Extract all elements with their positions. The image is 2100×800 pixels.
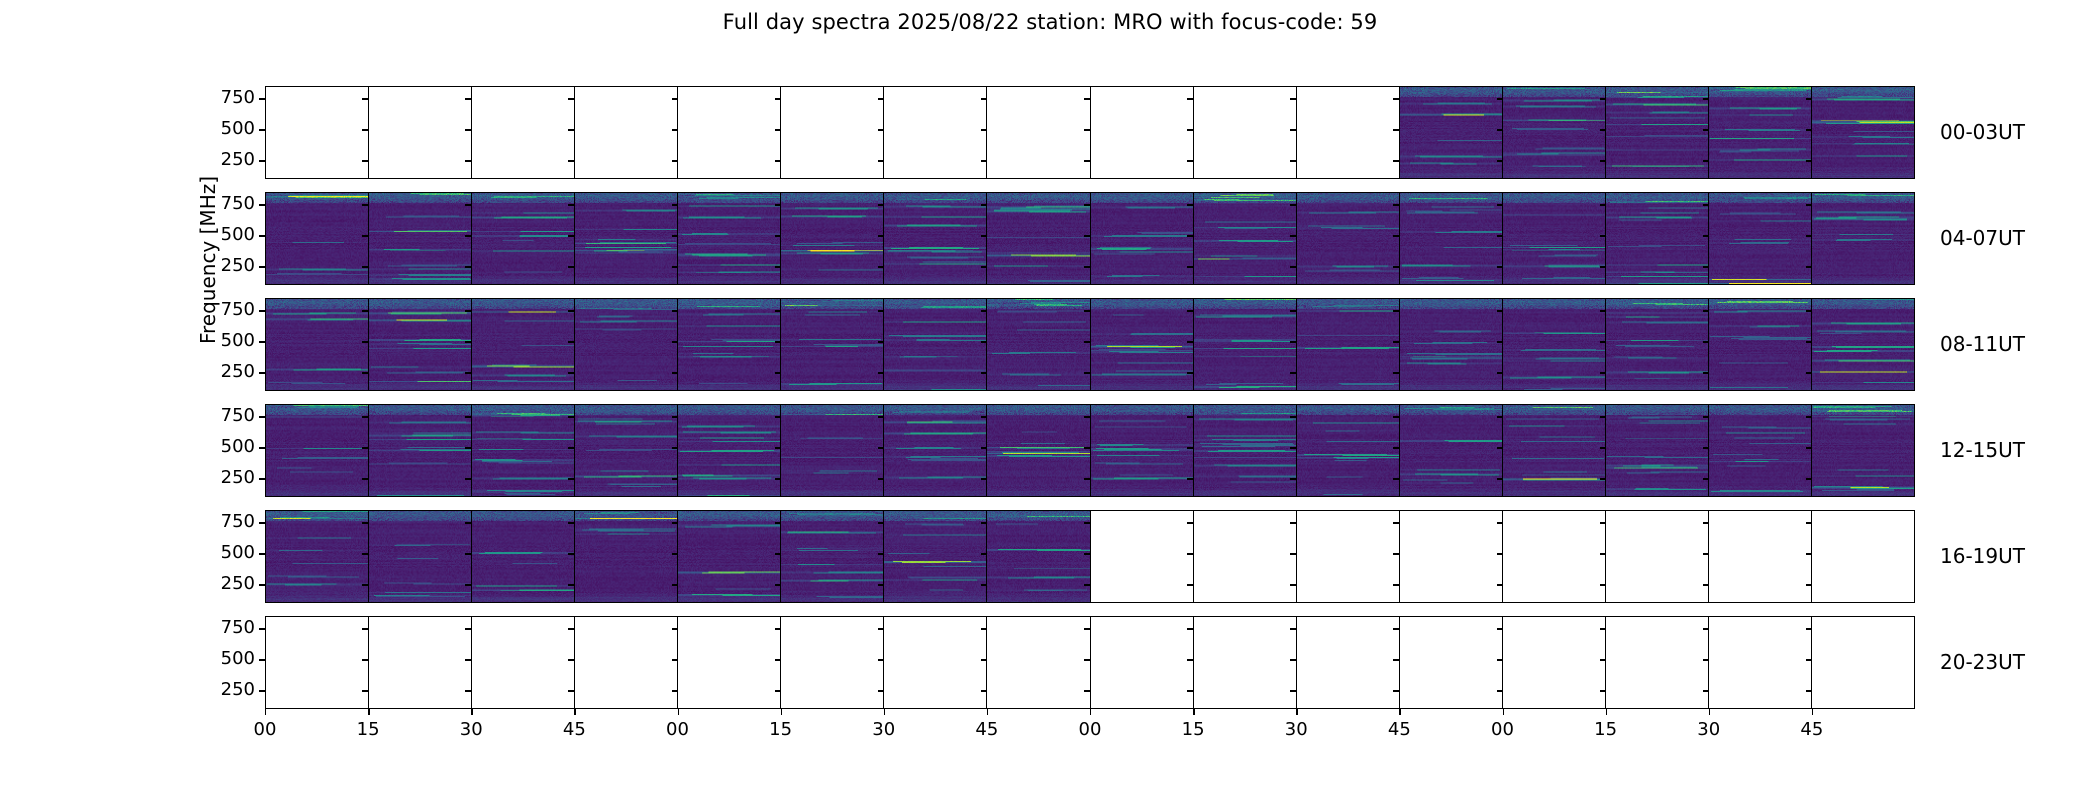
y-tick-mark-inner — [981, 628, 987, 629]
y-tick-label: 500 — [199, 224, 255, 245]
y-tick-mark-inner — [465, 160, 471, 161]
x-tick-mark — [1812, 709, 1813, 715]
x-tick-label: 15 — [338, 719, 398, 740]
spectrogram-panel[interactable] — [781, 193, 884, 284]
y-tick-mark-inner — [775, 416, 781, 417]
spectrogram-panel-empty[interactable] — [987, 87, 1090, 178]
spectrogram-panel[interactable] — [884, 511, 987, 602]
spectrogram-panel[interactable] — [472, 299, 575, 390]
spectrogram-panel[interactable] — [678, 193, 781, 284]
spectrogram-image — [1812, 299, 1914, 390]
y-tick-mark-inner — [465, 98, 471, 99]
spectrogram-panel[interactable] — [1709, 193, 1812, 284]
y-tick-mark-inner — [465, 310, 471, 311]
spectrogram-panel-empty[interactable] — [266, 87, 369, 178]
spectrogram-panel[interactable] — [987, 405, 1090, 496]
spectrogram-panel[interactable] — [1297, 299, 1400, 390]
x-tick-mark — [1709, 709, 1710, 715]
y-tick-mark-inner — [362, 266, 368, 267]
spectrogram-row-12-15ut[interactable] — [265, 404, 1915, 497]
spectrogram-panel[interactable] — [1503, 193, 1606, 284]
y-tick-mark-inner — [1497, 341, 1503, 342]
y-tick-mark — [259, 341, 265, 342]
spectrogram-panel-empty[interactable] — [884, 617, 987, 708]
y-tick-mark-inner — [1393, 160, 1399, 161]
y-tick-mark-inner — [672, 628, 678, 629]
y-tick-mark-inner — [1290, 372, 1296, 373]
y-tick-mark — [259, 416, 265, 417]
spectrogram-image — [1503, 405, 1605, 496]
y-tick-mark-inner — [775, 204, 781, 205]
spectrogram-image — [781, 405, 883, 496]
y-tick-mark-inner — [775, 372, 781, 373]
spectrogram-panel[interactable] — [678, 511, 781, 602]
y-tick-mark-inner — [568, 204, 574, 205]
spectrogram-panel-empty[interactable] — [1812, 511, 1914, 602]
y-tick-mark-inner — [981, 129, 987, 130]
y-tick-mark-inner — [1393, 522, 1399, 523]
y-tick-mark-inner — [1703, 129, 1709, 130]
spectrogram-panel[interactable] — [781, 511, 884, 602]
y-tick-mark-inner — [672, 310, 678, 311]
y-tick-mark — [259, 310, 265, 311]
spectrogram-panel-empty[interactable] — [472, 87, 575, 178]
spectrogram-panel[interactable] — [1503, 299, 1606, 390]
spectrogram-panel-empty[interactable] — [1400, 617, 1503, 708]
y-tick-mark-inner — [1497, 584, 1503, 585]
spectrogram-image — [1812, 405, 1914, 496]
spectrogram-figure: Full day spectra 2025/08/22 station: MRO… — [0, 0, 2100, 800]
spectrogram-image — [781, 511, 883, 602]
y-tick-mark-inner — [775, 98, 781, 99]
y-tick-mark-inner — [1600, 628, 1606, 629]
y-tick-mark-inner — [1806, 478, 1812, 479]
row-label-16-19ut: 16-19UT — [1940, 544, 2025, 568]
spectrogram-panel[interactable] — [1606, 299, 1709, 390]
spectrogram-panel[interactable] — [266, 405, 369, 496]
spectrogram-panel[interactable] — [1400, 299, 1503, 390]
spectrogram-panel[interactable] — [1709, 299, 1812, 390]
y-tick-mark-inner — [1290, 478, 1296, 479]
spectrogram-panel[interactable] — [1297, 405, 1400, 496]
y-tick-mark-inner — [1290, 522, 1296, 523]
y-tick-mark-inner — [1187, 341, 1193, 342]
y-tick-mark-inner — [1600, 553, 1606, 554]
spectrogram-panel-empty[interactable] — [1194, 511, 1297, 602]
spectrogram-image — [266, 299, 368, 390]
spectrogram-panel[interactable] — [1297, 193, 1400, 284]
y-tick-mark-inner — [1497, 628, 1503, 629]
y-tick-mark-inner — [775, 235, 781, 236]
spectrogram-panel[interactable] — [1400, 193, 1503, 284]
y-tick-mark-inner — [1187, 584, 1193, 585]
spectrogram-panel[interactable] — [575, 511, 678, 602]
x-tick-label: 15 — [1163, 719, 1223, 740]
y-tick-mark-inner — [465, 522, 471, 523]
y-tick-mark-inner — [362, 129, 368, 130]
y-tick-mark-inner — [1084, 266, 1090, 267]
y-tick-mark-inner — [1806, 235, 1812, 236]
spectrogram-panel[interactable] — [987, 193, 1090, 284]
y-tick-mark-inner — [1187, 628, 1193, 629]
y-tick-mark-inner — [981, 266, 987, 267]
x-tick-mark — [1193, 709, 1194, 715]
y-tick-mark-inner — [1187, 522, 1193, 523]
spectrogram-panel[interactable] — [1812, 299, 1914, 390]
spectrogram-image — [678, 511, 780, 602]
spectrogram-panel-empty[interactable] — [1400, 511, 1503, 602]
y-tick-mark-inner — [1497, 310, 1503, 311]
spectrogram-image — [472, 299, 574, 390]
y-tick-mark-inner — [465, 372, 471, 373]
y-tick-mark-inner — [672, 690, 678, 691]
spectrogram-panel-empty[interactable] — [266, 617, 369, 708]
spectrogram-panel-empty[interactable] — [1709, 617, 1812, 708]
spectrogram-panel[interactable] — [1400, 405, 1503, 496]
y-tick-mark — [259, 98, 265, 99]
spectrogram-panel-empty[interactable] — [369, 87, 472, 178]
spectrogram-image — [1812, 87, 1914, 178]
y-tick-mark-inner — [672, 98, 678, 99]
page-title: Full day spectra 2025/08/22 station: MRO… — [0, 10, 2100, 34]
spectrogram-panel-empty[interactable] — [1503, 617, 1606, 708]
y-tick-mark-inner — [1187, 447, 1193, 448]
y-tick-mark-inner — [1703, 478, 1709, 479]
spectrogram-image — [781, 299, 883, 390]
y-tick-mark-inner — [362, 553, 368, 554]
y-tick-mark-inner — [465, 659, 471, 660]
y-tick-mark-inner — [1600, 659, 1606, 660]
spectrogram-row-20-23ut[interactable] — [265, 616, 1915, 709]
spectrogram-panel-empty[interactable] — [678, 87, 781, 178]
spectrogram-panel-empty[interactable] — [1297, 511, 1400, 602]
y-tick-mark-inner — [1084, 553, 1090, 554]
spectrogram-panel-empty[interactable] — [1812, 617, 1914, 708]
spectrogram-panel[interactable] — [678, 299, 781, 390]
spectrogram-panel-empty[interactable] — [1091, 617, 1194, 708]
spectrogram-panel-empty[interactable] — [1194, 617, 1297, 708]
y-tick-mark-inner — [1084, 659, 1090, 660]
y-tick-mark-inner — [568, 235, 574, 236]
spectrogram-panel-empty[interactable] — [575, 87, 678, 178]
y-tick-mark-inner — [1806, 690, 1812, 691]
y-tick-mark-inner — [878, 416, 884, 417]
y-tick-mark-inner — [568, 372, 574, 373]
spectrogram-panel[interactable] — [1709, 405, 1812, 496]
y-tick-mark — [259, 266, 265, 267]
spectrogram-panel[interactable] — [678, 405, 781, 496]
y-tick-mark-inner — [1393, 690, 1399, 691]
y-tick-mark-inner — [465, 628, 471, 629]
x-tick-label: 30 — [1679, 719, 1739, 740]
x-tick-mark — [1606, 709, 1607, 715]
y-tick-mark-inner — [775, 341, 781, 342]
y-tick-mark-inner — [1084, 129, 1090, 130]
spectrogram-panel-empty[interactable] — [1503, 511, 1606, 602]
y-tick-mark-inner — [1806, 204, 1812, 205]
spectrogram-panel[interactable] — [1091, 405, 1194, 496]
spectrogram-panel[interactable] — [575, 193, 678, 284]
spectrogram-image — [1400, 299, 1502, 390]
spectrogram-panel-empty[interactable] — [781, 87, 884, 178]
y-tick-mark-inner — [1600, 235, 1606, 236]
y-tick-mark-inner — [1497, 160, 1503, 161]
y-tick-mark-inner — [1290, 160, 1296, 161]
y-tick-mark-inner — [775, 266, 781, 267]
spectrogram-panel[interactable] — [1503, 87, 1606, 178]
x-tick-label: 30 — [854, 719, 914, 740]
y-tick-mark-inner — [775, 553, 781, 554]
spectrogram-panel[interactable] — [1194, 299, 1297, 390]
spectrogram-panel[interactable] — [266, 511, 369, 602]
spectrogram-panel-empty[interactable] — [678, 617, 781, 708]
y-tick-mark-inner — [672, 341, 678, 342]
y-tick-mark-inner — [362, 478, 368, 479]
y-tick-mark-inner — [1806, 628, 1812, 629]
y-tick-mark-inner — [1600, 266, 1606, 267]
spectrogram-panel[interactable] — [1709, 87, 1812, 178]
spectrogram-panel[interactable] — [369, 405, 472, 496]
spectrogram-panel[interactable] — [1606, 87, 1709, 178]
y-tick-mark-inner — [568, 266, 574, 267]
y-tick-mark-inner — [1497, 98, 1503, 99]
y-tick-mark-inner — [878, 690, 884, 691]
y-tick-mark — [259, 160, 265, 161]
y-tick-mark-inner — [1187, 129, 1193, 130]
y-tick-mark-inner — [1290, 204, 1296, 205]
spectrogram-row-08-11ut[interactable] — [265, 298, 1915, 391]
spectrogram-image — [1709, 193, 1811, 284]
spectrogram-panel[interactable] — [1812, 87, 1914, 178]
y-tick-mark-inner — [465, 447, 471, 448]
y-tick-mark-inner — [672, 553, 678, 554]
spectrogram-panel[interactable] — [1400, 87, 1503, 178]
y-tick-mark-inner — [981, 690, 987, 691]
y-tick-mark-inner — [465, 690, 471, 691]
y-tick-mark-inner — [1393, 129, 1399, 130]
y-tick-mark — [259, 478, 265, 479]
spectrogram-panel[interactable] — [884, 193, 987, 284]
y-tick-mark-inner — [1600, 204, 1606, 205]
y-tick-mark-inner — [465, 204, 471, 205]
spectrogram-image — [575, 299, 677, 390]
y-tick-mark-inner — [775, 690, 781, 691]
spectrogram-panel-empty[interactable] — [575, 617, 678, 708]
spectrogram-panel-empty[interactable] — [472, 617, 575, 708]
panel-strip — [266, 617, 1914, 708]
x-tick-mark — [1399, 709, 1400, 715]
y-tick-mark-inner — [1497, 659, 1503, 660]
spectrogram-panel[interactable] — [266, 299, 369, 390]
spectrogram-panel[interactable] — [1091, 193, 1194, 284]
spectrogram-image — [1503, 299, 1605, 390]
x-tick-mark — [1296, 709, 1297, 715]
x-tick-mark — [884, 709, 885, 715]
y-tick-mark-inner — [362, 690, 368, 691]
y-tick-mark-inner — [1084, 416, 1090, 417]
y-tick-label: 500 — [199, 118, 255, 139]
y-tick-label: 750 — [199, 405, 255, 426]
spectrogram-row-04-07ut[interactable] — [265, 192, 1915, 285]
y-tick-mark-inner — [878, 160, 884, 161]
spectrogram-panel[interactable] — [1194, 405, 1297, 496]
y-tick-mark-inner — [1084, 98, 1090, 99]
spectrogram-panel[interactable] — [1812, 405, 1914, 496]
y-tick-mark-inner — [1187, 478, 1193, 479]
spectrogram-panel[interactable] — [1503, 405, 1606, 496]
spectrogram-panel[interactable] — [1091, 299, 1194, 390]
spectrogram-panel[interactable] — [369, 299, 472, 390]
spectrogram-panel[interactable] — [781, 405, 884, 496]
y-tick-mark-inner — [362, 310, 368, 311]
y-tick-mark-inner — [568, 416, 574, 417]
y-tick-label: 500 — [199, 330, 255, 351]
spectrogram-panel[interactable] — [1812, 193, 1914, 284]
y-tick-mark-inner — [878, 129, 884, 130]
spectrogram-panel[interactable] — [369, 511, 472, 602]
y-tick-mark-inner — [1600, 98, 1606, 99]
y-tick-mark-inner — [1084, 372, 1090, 373]
spectrogram-panel-empty[interactable] — [1297, 87, 1400, 178]
y-tick-mark-inner — [362, 204, 368, 205]
y-tick-mark-inner — [878, 522, 884, 523]
y-tick-label: 750 — [199, 511, 255, 532]
spectrogram-panel-empty[interactable] — [987, 617, 1090, 708]
spectrogram-panel[interactable] — [884, 299, 987, 390]
x-tick-mark — [368, 709, 369, 715]
y-tick-mark-inner — [775, 478, 781, 479]
spectrogram-panel-empty[interactable] — [781, 617, 884, 708]
row-label-04-07ut: 04-07UT — [1940, 226, 2025, 250]
y-tick-mark-inner — [568, 129, 574, 130]
x-tick-label: 45 — [1369, 719, 1429, 740]
y-tick-mark-inner — [1290, 553, 1296, 554]
y-tick-mark — [259, 522, 265, 523]
spectrogram-panel-empty[interactable] — [1091, 511, 1194, 602]
panel-strip — [266, 511, 1914, 602]
spectrogram-row-00-03ut[interactable] — [265, 86, 1915, 179]
spectrogram-image — [1297, 299, 1399, 390]
spectrogram-image — [1194, 405, 1296, 496]
y-tick-mark-inner — [1600, 522, 1606, 523]
y-tick-mark-inner — [878, 372, 884, 373]
spectrogram-panel[interactable] — [472, 193, 575, 284]
spectrogram-row-16-19ut[interactable] — [265, 510, 1915, 603]
y-tick-mark-inner — [878, 478, 884, 479]
spectrogram-panel[interactable] — [1194, 193, 1297, 284]
panel-strip — [266, 405, 1914, 496]
panel-strip — [266, 299, 1914, 390]
spectrogram-image — [884, 405, 986, 496]
y-tick-mark-inner — [1393, 266, 1399, 267]
spectrogram-panel[interactable] — [472, 511, 575, 602]
spectrogram-panel[interactable] — [369, 193, 472, 284]
y-tick-mark-inner — [1600, 690, 1606, 691]
y-tick-mark-inner — [981, 310, 987, 311]
y-tick-mark-inner — [1393, 659, 1399, 660]
y-tick-mark-inner — [1393, 341, 1399, 342]
y-tick-mark-inner — [568, 447, 574, 448]
y-tick-mark-inner — [362, 98, 368, 99]
y-tick-mark-inner — [362, 235, 368, 236]
y-tick-mark-inner — [878, 204, 884, 205]
spectrogram-panel[interactable] — [575, 299, 678, 390]
y-tick-mark-inner — [1084, 584, 1090, 585]
y-tick-mark-inner — [1600, 416, 1606, 417]
spectrogram-panel-empty[interactable] — [884, 87, 987, 178]
row-label-20-23ut: 20-23UT — [1940, 650, 2025, 674]
y-tick-mark-inner — [1703, 341, 1709, 342]
y-tick-mark-inner — [672, 129, 678, 130]
spectrogram-panel[interactable] — [266, 193, 369, 284]
y-tick-mark-inner — [1290, 584, 1296, 585]
y-tick-mark-inner — [1600, 129, 1606, 130]
y-tick-mark-inner — [672, 235, 678, 236]
spectrogram-panel-empty[interactable] — [1709, 511, 1812, 602]
spectrogram-panel-empty[interactable] — [1297, 617, 1400, 708]
spectrogram-panel-empty[interactable] — [1606, 511, 1709, 602]
y-tick-mark — [259, 628, 265, 629]
y-tick-mark-inner — [568, 341, 574, 342]
y-tick-mark-inner — [981, 341, 987, 342]
y-tick-mark-inner — [981, 659, 987, 660]
y-tick-mark-inner — [1290, 416, 1296, 417]
spectrogram-image — [472, 405, 574, 496]
y-tick-mark-inner — [465, 416, 471, 417]
y-tick-mark-inner — [568, 628, 574, 629]
y-tick-mark-inner — [1290, 341, 1296, 342]
y-tick-label: 250 — [199, 467, 255, 488]
spectrogram-image — [884, 511, 986, 602]
spectrogram-panel[interactable] — [884, 405, 987, 496]
y-tick-mark-inner — [1187, 204, 1193, 205]
x-tick-label: 00 — [1473, 719, 1533, 740]
y-tick-mark-inner — [981, 584, 987, 585]
spectrogram-image — [1709, 405, 1811, 496]
spectrogram-panel[interactable] — [472, 405, 575, 496]
spectrogram-panel[interactable] — [1606, 193, 1709, 284]
spectrogram-image — [678, 299, 780, 390]
y-tick-mark-inner — [362, 341, 368, 342]
y-tick-mark-inner — [1806, 553, 1812, 554]
y-tick-mark-inner — [1290, 98, 1296, 99]
spectrogram-panel-empty[interactable] — [1091, 87, 1194, 178]
panel-strip — [266, 87, 1914, 178]
spectrogram-panel[interactable] — [987, 511, 1090, 602]
spectrogram-panel-empty[interactable] — [369, 617, 472, 708]
y-tick-mark-inner — [1600, 447, 1606, 448]
y-tick-mark-inner — [1290, 235, 1296, 236]
x-tick-label: 15 — [1576, 719, 1636, 740]
y-tick-mark-inner — [1497, 266, 1503, 267]
y-tick-mark-inner — [1084, 341, 1090, 342]
y-tick-mark-inner — [568, 522, 574, 523]
spectrogram-panel[interactable] — [987, 299, 1090, 390]
y-tick-mark-inner — [981, 235, 987, 236]
spectrogram-panel[interactable] — [1606, 405, 1709, 496]
y-tick-mark-inner — [1290, 659, 1296, 660]
y-tick-mark-inner — [362, 522, 368, 523]
spectrogram-panel-empty[interactable] — [1606, 617, 1709, 708]
y-tick-mark-inner — [1290, 310, 1296, 311]
y-tick-mark-inner — [775, 160, 781, 161]
spectrogram-panel-empty[interactable] — [1194, 87, 1297, 178]
y-tick-mark-inner — [672, 659, 678, 660]
spectrogram-panel[interactable] — [781, 299, 884, 390]
spectrogram-image — [472, 511, 574, 602]
spectrogram-panel[interactable] — [575, 405, 678, 496]
x-tick-label: 45 — [1782, 719, 1842, 740]
